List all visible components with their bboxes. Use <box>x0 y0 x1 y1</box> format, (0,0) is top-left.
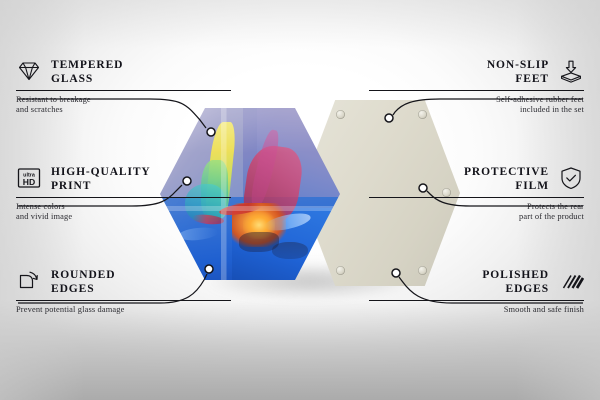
feature-protective-film[interactable]: PROTECTIVE FILM Protects the rear part o… <box>369 165 584 223</box>
feature-tempered-glass[interactable]: TEMPERED GLASS Resistant to breakage and… <box>16 58 231 116</box>
feature-subtitle: Smooth and safe finish <box>369 305 584 315</box>
feature-subtitle-line1: Protects the rear <box>369 202 584 212</box>
feature-divider <box>369 300 584 301</box>
feature-title: POLISHED EDGES <box>482 268 549 296</box>
feature-title: ROUNDED EDGES <box>51 268 115 296</box>
feature-subtitle-line2: included in the set <box>369 105 584 115</box>
feature-divider <box>369 90 584 91</box>
feature-polished-edges[interactable]: POLISHED EDGES Smooth and safe finish <box>369 268 584 315</box>
feature-divider <box>16 197 231 198</box>
feature-title-line1: POLISHED <box>482 269 549 283</box>
feature-subtitle-line1: Smooth and safe finish <box>369 305 584 315</box>
feature-divider <box>16 300 231 301</box>
feature-title: PROTECTIVE FILM <box>464 165 549 193</box>
feature-subtitle-line2: and vivid image <box>16 212 231 222</box>
connector-node-tempered-glass <box>207 128 215 136</box>
feature-non-slip-feet[interactable]: NON-SLIP FEET Self-adhesive rubber feet … <box>369 58 584 116</box>
feature-subtitle-line2: and scratches <box>16 105 231 115</box>
feature-header: NON-SLIP FEET <box>369 58 584 86</box>
feature-header: ROUNDED EDGES <box>16 268 231 296</box>
feature-subtitle: Resistant to breakage and scratches <box>16 95 231 116</box>
feature-title-line1: ROUNDED <box>51 269 115 283</box>
feature-divider <box>16 90 231 91</box>
feature-header: TEMPERED GLASS <box>16 58 231 86</box>
feature-title-line2: FILM <box>464 180 549 194</box>
svg-text:HD: HD <box>23 177 35 187</box>
infographic-canvas: TEMPERED GLASS Resistant to breakage and… <box>0 0 600 400</box>
feature-subtitle-line1: Prevent potential glass damage <box>16 305 231 315</box>
feature-title-line2: EDGES <box>51 283 115 297</box>
diamond-icon <box>16 58 42 84</box>
feature-header: PROTECTIVE FILM <box>369 165 584 193</box>
ultra-hd-icon: ultra HD <box>16 165 42 191</box>
feature-rounded-edges[interactable]: ROUNDED EDGES Prevent potential glass da… <box>16 268 231 315</box>
feature-header: ultra HD HIGH-QUALITY PRINT <box>16 165 231 193</box>
feature-title-line2: EDGES <box>482 283 549 297</box>
rounded-corner-icon <box>16 268 42 294</box>
feature-header: POLISHED EDGES <box>369 268 584 296</box>
feature-title-line1: TEMPERED <box>51 59 123 73</box>
feature-subtitle: Intense colors and vivid image <box>16 202 231 223</box>
feature-high-quality-print[interactable]: ultra HD HIGH-QUALITY PRINT Intense colo… <box>16 165 231 223</box>
feature-title-line2: FEET <box>487 73 549 87</box>
feature-subtitle-line1: Resistant to breakage <box>16 95 231 105</box>
diagonal-stripes-icon <box>558 268 584 294</box>
feature-subtitle-line2: part of the product <box>369 212 584 222</box>
feature-title-line1: NON-SLIP <box>487 59 549 73</box>
feature-title: NON-SLIP FEET <box>487 58 549 86</box>
feature-subtitle: Prevent potential glass damage <box>16 305 231 315</box>
feature-subtitle-line1: Self-adhesive rubber feet <box>369 95 584 105</box>
feature-subtitle: Self-adhesive rubber feet included in th… <box>369 95 584 116</box>
feature-subtitle-line1: Intense colors <box>16 202 231 212</box>
feature-title-line1: HIGH-QUALITY <box>51 166 151 180</box>
press-down-pad-icon <box>558 58 584 84</box>
shield-check-icon <box>558 165 584 191</box>
feature-title-line2: PRINT <box>51 180 151 194</box>
feature-title-line2: GLASS <box>51 73 123 87</box>
feature-title: HIGH-QUALITY PRINT <box>51 165 151 193</box>
feature-subtitle: Protects the rear part of the product <box>369 202 584 223</box>
feature-divider <box>369 197 584 198</box>
feature-title: TEMPERED GLASS <box>51 58 123 86</box>
feature-title-line1: PROTECTIVE <box>464 166 549 180</box>
